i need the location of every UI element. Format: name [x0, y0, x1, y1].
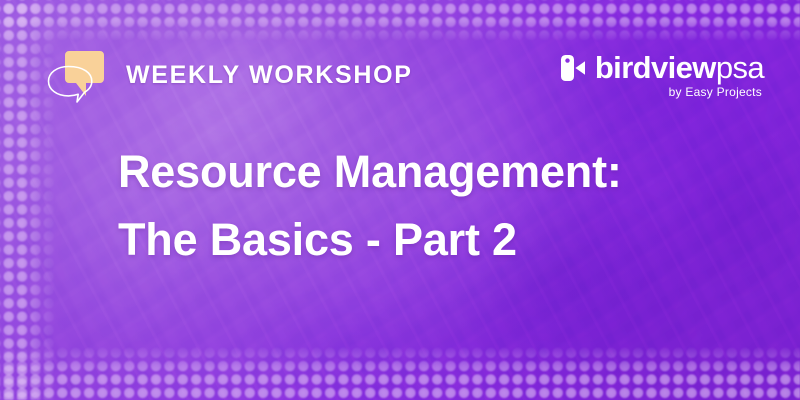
birdviewpsa-logo[interactable]: birdviewpsa by Easy Projects	[560, 52, 764, 98]
weekly-workshop-banner: WEEKLY WORKSHOP birdviewpsa by Easy Proj…	[0, 0, 800, 400]
speech-bubble-icon	[46, 46, 108, 104]
logo-main-row: birdviewpsa	[560, 52, 764, 83]
eyebrow-group: WEEKLY WORKSHOP	[46, 46, 413, 104]
logo-tagline: by Easy Projects	[669, 86, 764, 98]
logo-word-psa: psa	[716, 50, 764, 85]
eyebrow-label: WEEKLY WORKSHOP	[126, 63, 413, 88]
logo-wordmark: birdviewpsa	[595, 52, 764, 83]
logo-word-birdview: birdview	[595, 50, 716, 85]
halftone-dots-bottom	[0, 344, 800, 400]
banner-title: Resource Management: The Basics - Part 2	[118, 138, 738, 274]
title-line-2: The Basics - Part 2	[118, 206, 738, 274]
banner-header: WEEKLY WORKSHOP birdviewpsa by Easy Proj…	[46, 44, 764, 106]
halftone-dots-top	[0, 0, 800, 42]
title-line-1: Resource Management:	[118, 138, 738, 206]
birdview-bird-mark-icon	[560, 54, 586, 82]
